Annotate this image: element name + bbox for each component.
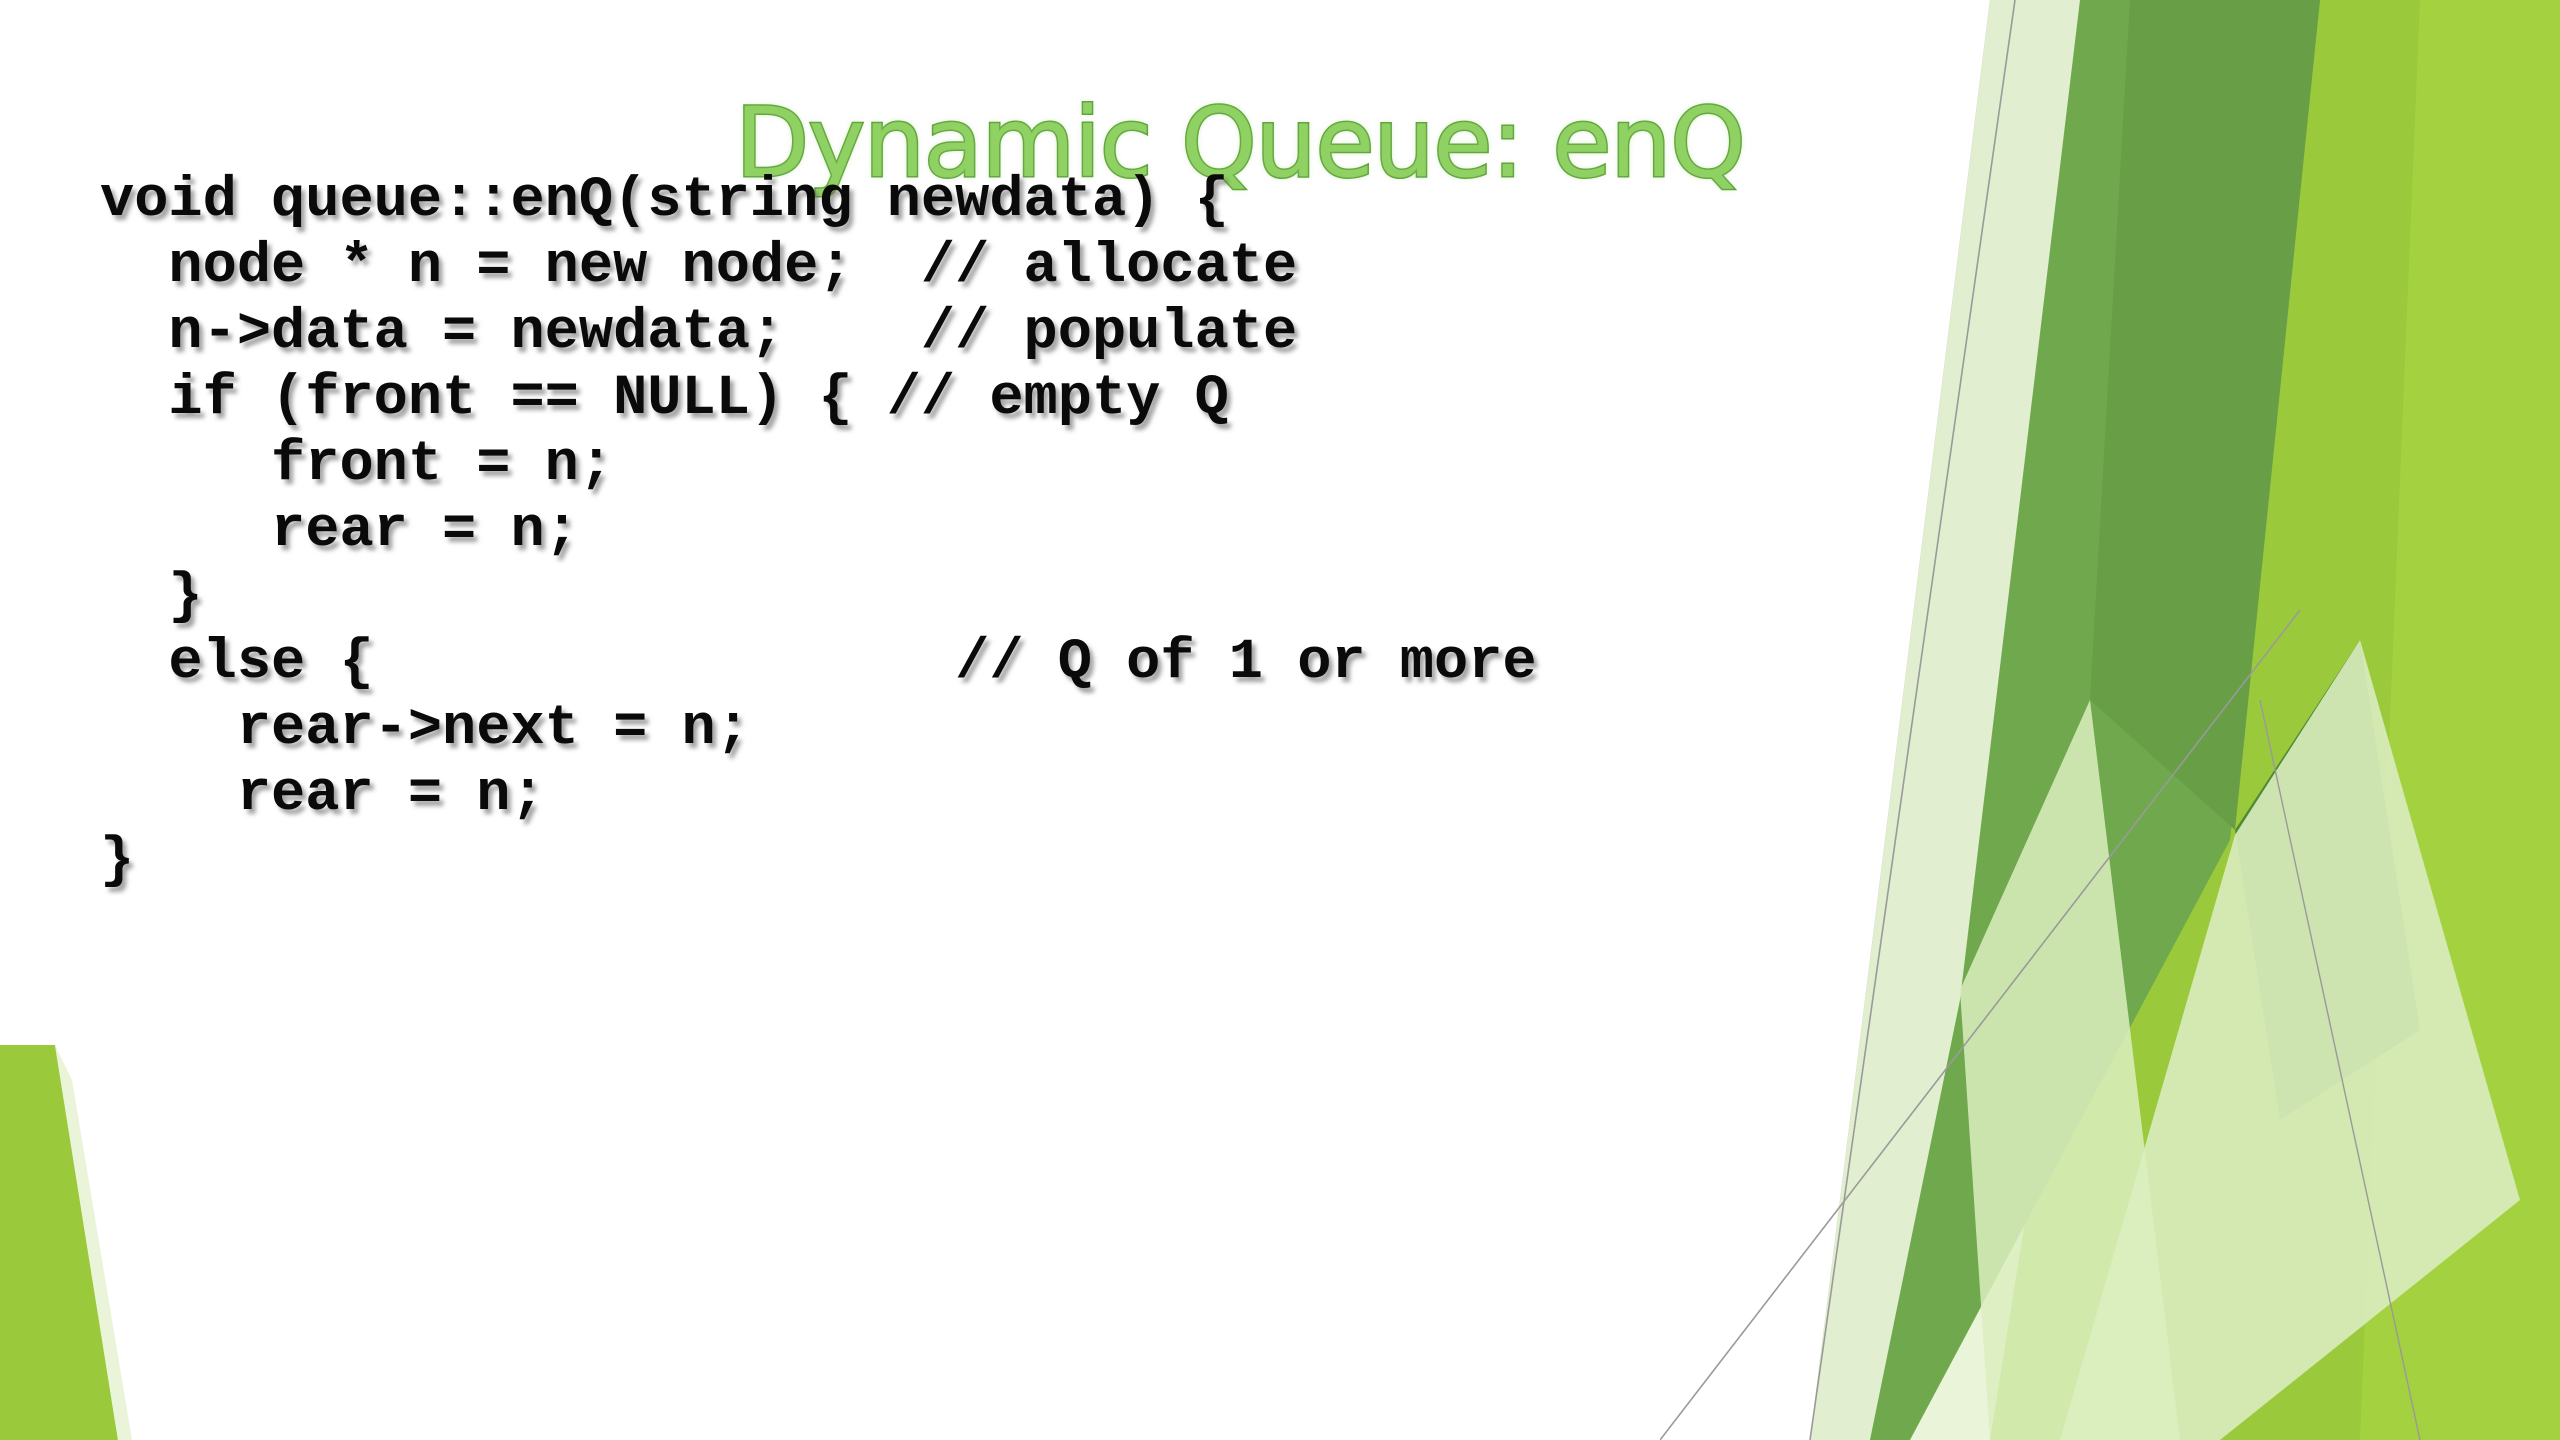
code-line: rear = n; [100,498,2100,564]
code-line: } [100,564,2100,630]
code-line: rear->next = n; [100,696,2100,762]
facet-shape-deep-green [2090,0,2320,830]
code-line: node * n = new node; // allocate [100,234,2100,300]
code-line: void queue::enQ(string newdata) { [100,168,2100,234]
facet-hairline-lower [2260,700,2420,1440]
facet-shape-bottom-left-pale [55,1045,132,1440]
code-line: front = n; [100,432,2100,498]
code-line: } [100,828,2100,894]
facet-shape-lime-far-right [2360,0,2560,1440]
code-line: else { // Q of 1 or more [100,630,2100,696]
facet-shape-bottom-left-wedge [0,1045,118,1440]
code-line: rear = n; [100,762,2100,828]
code-line: if (front == NULL) { // empty Q [100,366,2100,432]
code-block: void queue::enQ(string newdata) { node *… [100,168,2100,894]
facet-shape-pale-band [2060,640,2520,1440]
presentation-slide: Dynamic Queue: enQ void queue::enQ(strin… [0,0,2560,1440]
code-line: n->data = newdata; // populate [100,300,2100,366]
facet-shape-dark-notch [2235,640,2420,1120]
